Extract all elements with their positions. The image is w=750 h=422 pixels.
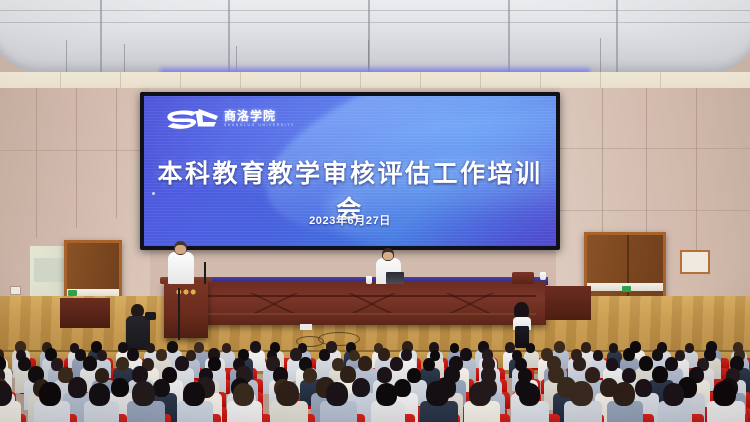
audience-head [377,367,392,383]
audience-head [713,381,736,406]
audience-head [622,368,636,383]
ceiling-groove [0,22,750,23]
laptop [386,272,404,284]
audience-member [89,383,116,422]
audience-head [469,382,491,406]
audience-head [319,349,330,361]
floor-power-brick [300,324,312,330]
audience-head [593,350,603,361]
ceiling-seam [616,0,618,76]
table-trim [206,295,536,315]
audience-head [623,348,635,361]
speaker-torso [168,252,194,284]
sl-monogram-icon [166,108,218,130]
screen-pixel-artifact [152,192,155,195]
stage-chair [512,272,534,284]
audience-member [183,382,211,422]
audience-head [352,378,370,397]
audience-member [663,383,690,422]
university-logo: 商洛学院 SHANGLUO UNIVERSITY [166,108,295,130]
audience-head [68,377,87,398]
audience-head [303,368,317,383]
microphone-cable [204,262,206,284]
podium-cable [178,288,180,340]
side-table-right [545,286,591,320]
led-screen: 商洛学院 SHANGLUO UNIVERSITY 本科教育教学审核评估工作培训会… [144,96,556,246]
exit-sign-icon [622,286,631,292]
audience-member [519,383,546,422]
ceiling-seam [508,0,510,76]
wall-panel-line [0,150,140,151]
wall-panel-line [556,148,750,149]
audience-member [469,382,497,422]
audience-head [183,382,205,406]
audience-member [132,381,161,422]
audience-head [613,382,635,406]
paper-cup [540,272,546,280]
audience-member [713,381,742,422]
audience-member [326,382,354,422]
wall-panel-seam [116,88,117,218]
podium [164,282,208,338]
speaker-face [175,245,186,254]
audience-head [233,383,254,406]
logo-chinese-name: 商洛学院 [224,110,295,122]
wall-panel-seam [602,88,603,248]
audience-head [89,383,110,406]
wall-notice-frame [680,250,710,274]
wall-panel-seam [36,88,37,238]
ceiling [0,0,750,72]
audience-member [376,383,403,422]
presenter-face [383,252,393,260]
audience-head [606,358,618,371]
audience-head [663,383,684,406]
wall-panel-line [556,210,750,211]
audience-head [519,383,540,406]
ceiling-wire [124,44,125,72]
paper-cup [366,276,372,284]
audience-member [276,381,305,422]
side-table-left [60,298,110,328]
auditorium-photo: 商洛学院 SHANGLUO UNIVERSITY 本科教育教学审核评估工作培训会… [0,0,750,422]
video-camera-icon [145,312,156,320]
logo-text-block: 商洛学院 SHANGLUO UNIVERSITY [224,110,295,127]
audience-head [146,343,155,353]
audience-head [95,368,109,383]
wall-panel-seam [696,88,697,268]
ceiling-wire [66,40,67,72]
audience-member [426,381,455,422]
audience-head [426,381,449,406]
audience-member [613,382,641,422]
ceiling-groove [0,10,750,11]
slide-date: 2023年6月27日 [144,212,556,228]
ceiling-wire [600,38,601,72]
wall-panel-seam [76,88,77,228]
logo-english-name: SHANGLUO UNIVERSITY [224,124,295,127]
audience-member [233,383,260,422]
audience-head [326,382,348,406]
audience-head [116,357,129,371]
audience-head [570,381,593,406]
wall-outlet-icon [10,286,21,295]
ceiling-seam [100,0,102,76]
audience-head [39,382,61,406]
audience-head [450,343,459,353]
audience-head [378,348,390,361]
audience-member [570,381,599,422]
audience-head [276,381,299,406]
head-table [196,281,546,325]
ceiling-seam [228,0,230,76]
audience-head [609,343,618,353]
audience-member [39,382,67,422]
audience-head [132,381,155,406]
audience-member [0,381,18,422]
audience-head [376,383,397,406]
